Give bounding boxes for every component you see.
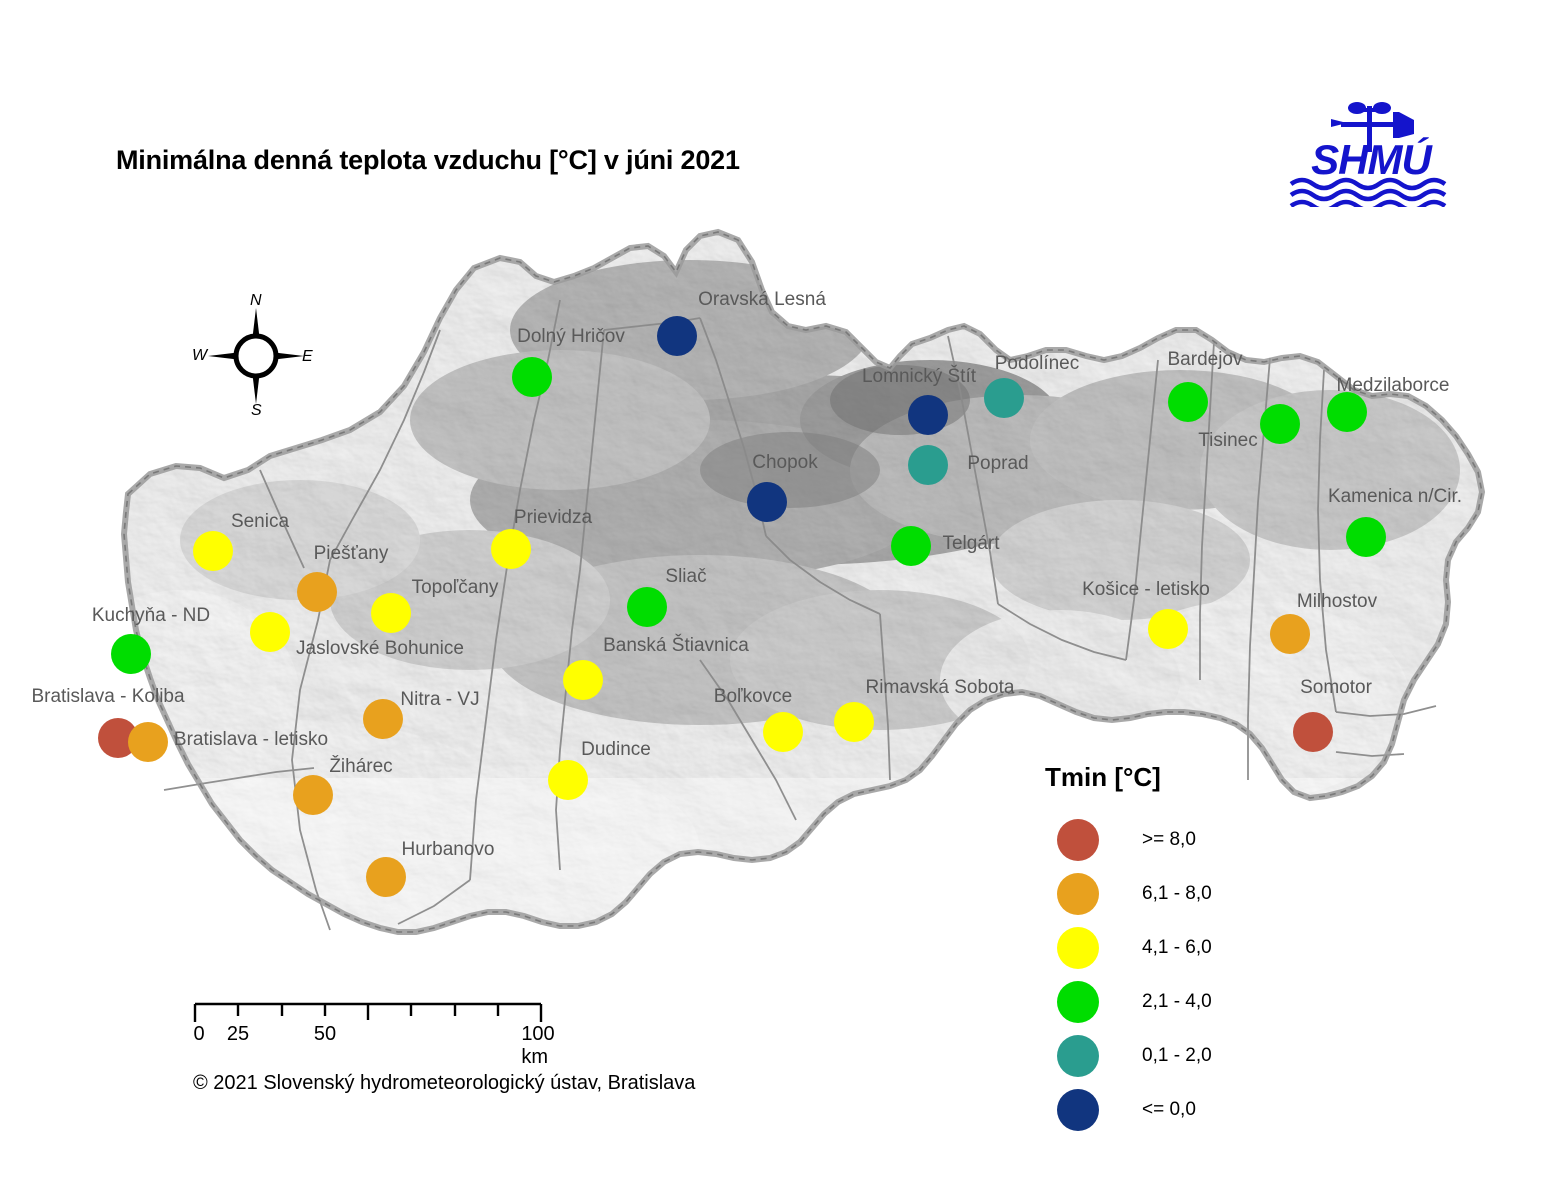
legend-swatch [1057,873,1099,915]
legend-label: 4,1 - 6,0 [1142,937,1212,959]
station-marker[interactable] [293,775,333,815]
station-marker[interactable] [834,702,874,742]
legend: Tmin [°C] >= 8,06,1 - 8,04,1 - 6,02,1 - … [1043,762,1343,1137]
station-label: Banská Štiavnica [603,635,749,657]
station-label: Milhostov [1297,591,1377,613]
scale-bar: 0 25 50 100 km [193,1000,543,1060]
station-marker[interactable] [908,445,948,485]
station-label: Topoľčany [412,577,499,599]
compass-rose: N E S W [192,292,322,427]
station-label: Tisinec [1198,430,1257,452]
legend-item: 2,1 - 4,0 [1043,975,1343,1029]
legend-swatch [1057,1035,1099,1077]
station-marker[interactable] [111,634,151,674]
station-label: Bratislava - Koliba [31,686,184,708]
station-marker[interactable] [563,660,603,700]
station-marker[interactable] [297,572,337,612]
station-label: Chopok [752,452,818,474]
station-label: Senica [231,511,289,533]
station-label: Kamenica n/Cir. [1328,486,1462,508]
station-label: Podolínec [995,353,1080,375]
station-marker[interactable] [128,722,168,762]
legend-label: 6,1 - 8,0 [1142,883,1212,905]
station-label: Dolný Hričov [517,326,625,348]
station-marker[interactable] [1168,382,1208,422]
station-marker[interactable] [1327,392,1367,432]
station-label: Telgárt [942,533,999,555]
station-label: Žihárec [329,756,392,778]
station-marker[interactable] [1148,609,1188,649]
legend-item: 4,1 - 6,0 [1043,921,1343,975]
compass-west-label: W [192,347,207,365]
legend-swatch [1057,819,1099,861]
station-marker[interactable] [984,378,1024,418]
legend-item: 6,1 - 8,0 [1043,867,1343,921]
station-label: Somotor [1300,677,1372,699]
scale-tick-0: 0 [193,1023,204,1046]
station-label: Boľkovce [714,686,792,708]
station-marker[interactable] [908,395,948,435]
station-marker[interactable] [627,587,667,627]
station-marker[interactable] [193,531,233,571]
station-label: Rimavská Sobota [866,677,1015,699]
scale-tick-100: 100 km [521,1023,554,1069]
station-marker[interactable] [363,699,403,739]
compass-south-label: S [251,402,262,420]
page-title: Minimálna denná teplota vzduchu [°C] v j… [116,145,740,176]
station-marker[interactable] [1270,614,1310,654]
station-marker[interactable] [250,612,290,652]
station-marker[interactable] [747,482,787,522]
logo-wordmark: SHMÚ [1311,136,1433,183]
station-marker[interactable] [366,857,406,897]
station-label: Košice - letisko [1082,579,1210,601]
compass-east-label: E [302,348,313,366]
copyright-text: © 2021 Slovenský hydrometeorologický úst… [193,1072,695,1095]
station-marker[interactable] [512,357,552,397]
station-marker[interactable] [371,593,411,633]
station-label: Piešťany [314,543,389,565]
station-label: Lomnický Štít [862,366,976,388]
station-marker[interactable] [1260,404,1300,444]
legend-label: >= 8,0 [1142,829,1196,851]
station-label: Sliač [665,566,706,588]
station-marker[interactable] [891,526,931,566]
station-label: Bratislava - letisko [174,729,328,751]
legend-swatch [1057,1089,1099,1131]
station-label: Poprad [967,453,1028,475]
legend-swatch [1057,927,1099,969]
compass-north-label: N [250,292,262,310]
station-marker[interactable] [657,316,697,356]
station-label: Oravská Lesná [698,289,826,311]
station-marker[interactable] [491,529,531,569]
legend-item: >= 8,0 [1043,813,1343,867]
legend-label: 0,1 - 2,0 [1142,1045,1212,1067]
station-marker[interactable] [763,712,803,752]
station-label: Kuchyňa - ND [92,605,210,627]
legend-swatch [1057,981,1099,1023]
station-label: Prievidza [514,507,592,529]
scale-tick-50: 50 [314,1023,336,1046]
station-marker[interactable] [1293,712,1333,752]
station-label: Dudince [581,739,651,761]
legend-label: <= 0,0 [1142,1099,1196,1121]
legend-title: Tmin [°C] [1045,762,1343,793]
legend-item: 0,1 - 2,0 [1043,1029,1343,1083]
station-marker[interactable] [548,760,588,800]
shmu-logo: SHMÚ [1281,92,1461,207]
station-label: Nitra - VJ [400,689,479,711]
scale-tick-25: 25 [227,1023,249,1046]
legend-item: <= 0,0 [1043,1083,1343,1137]
legend-label: 2,1 - 4,0 [1142,991,1212,1013]
station-label: Hurbanovo [402,839,495,861]
station-marker[interactable] [1346,517,1386,557]
station-label: Jaslovské Bohunice [296,638,464,660]
station-label: Bardejov [1168,349,1243,371]
